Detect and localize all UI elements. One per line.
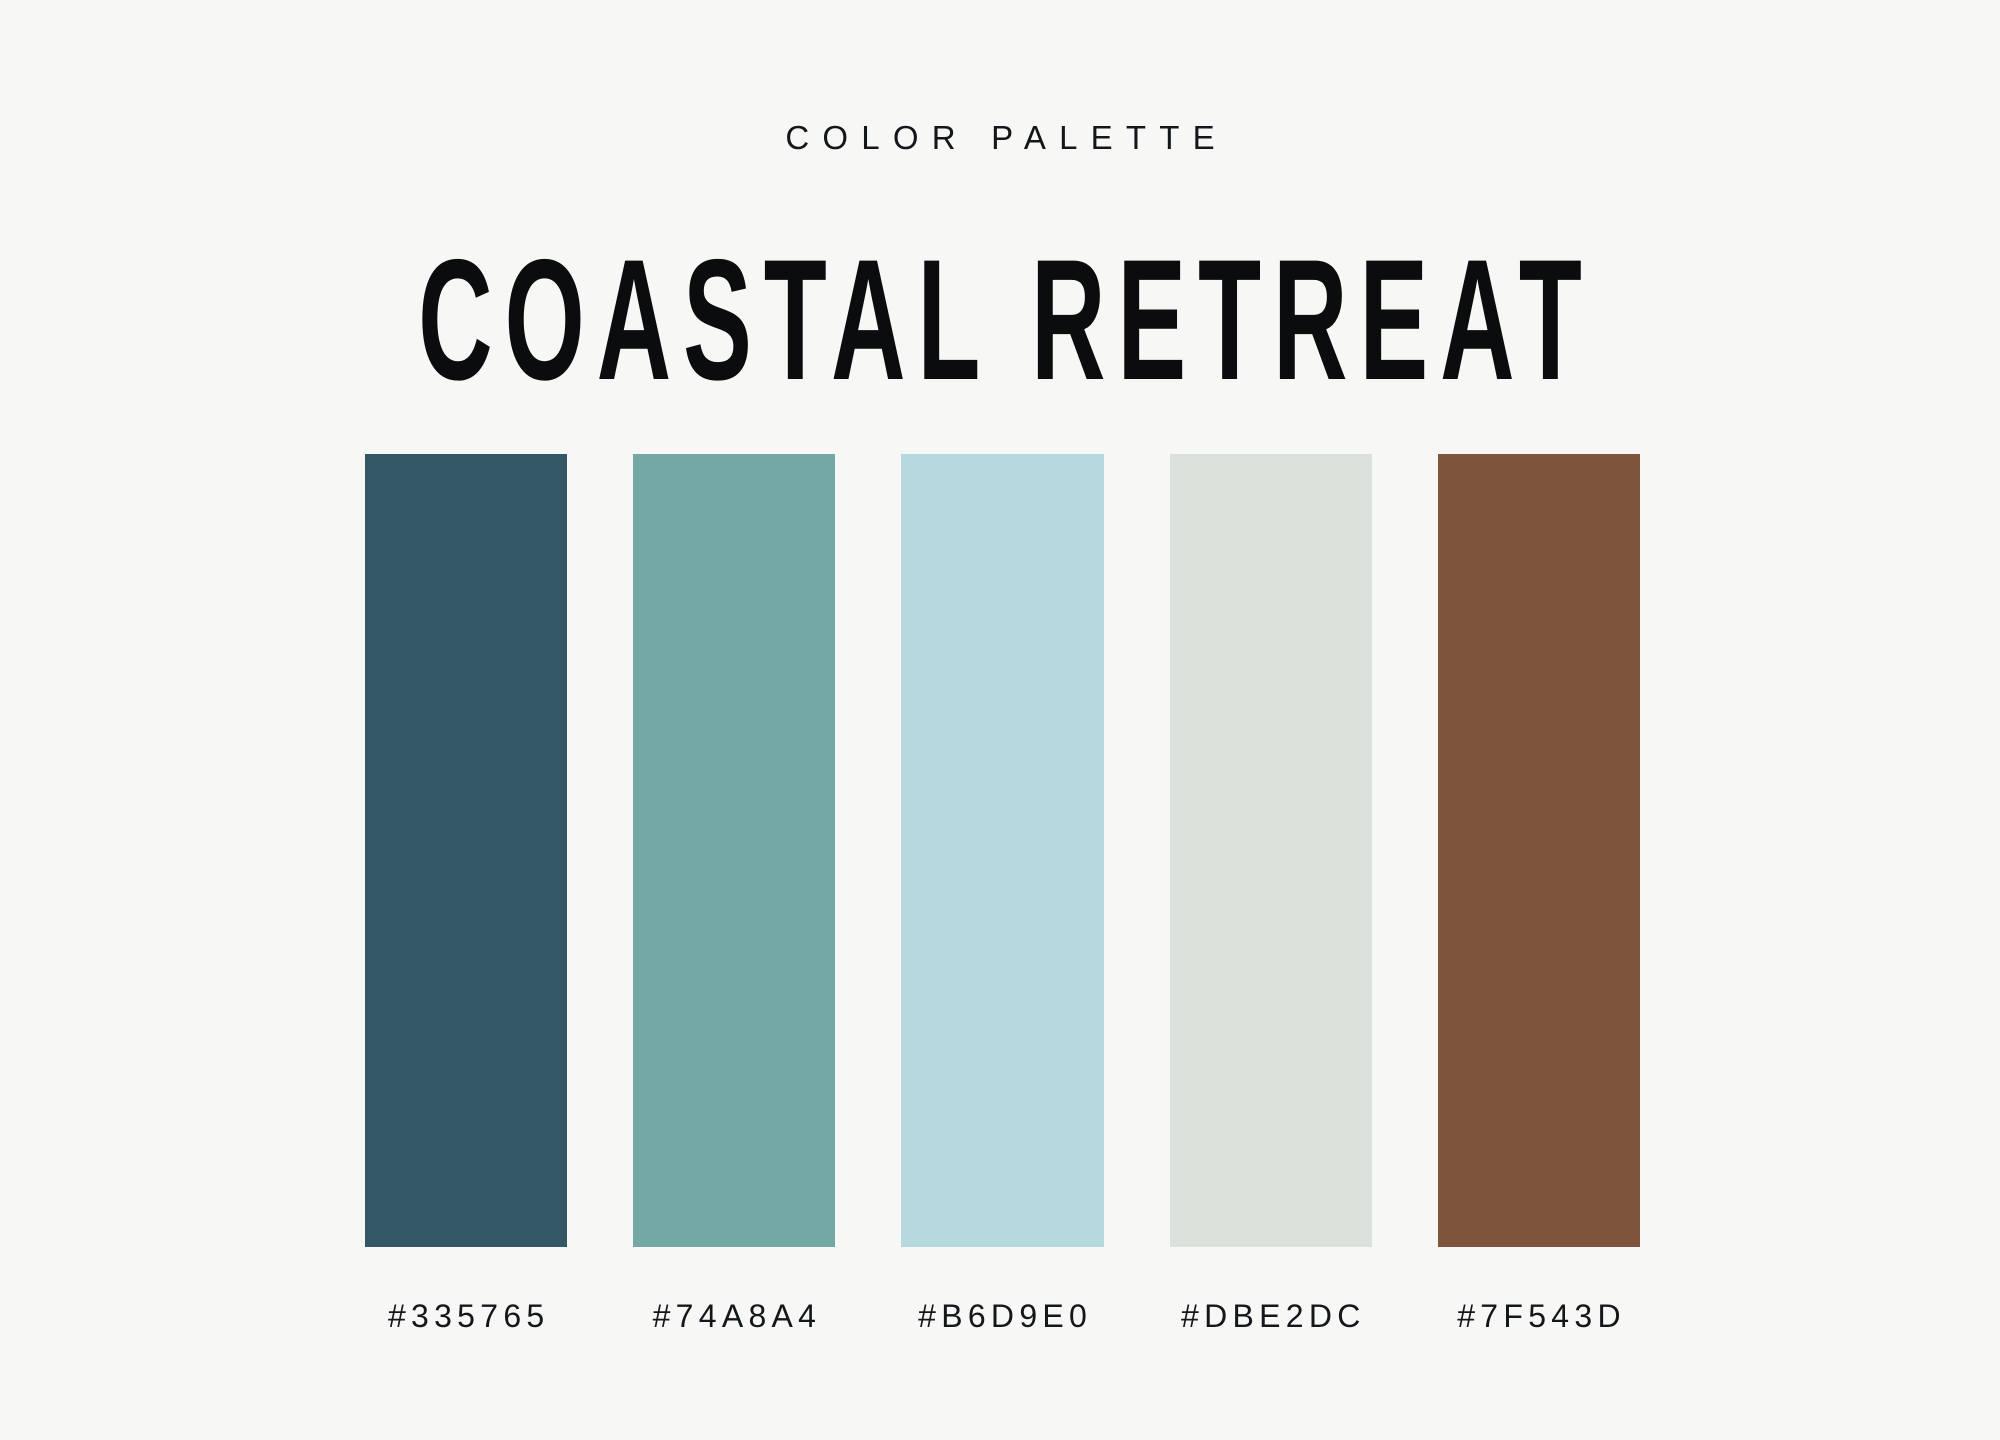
hex-code-row: #335765#74A8A4#B6D9E0#DBE2DC#7F543D [365,1292,1640,1340]
swatch-column-deep-teal-blue[interactable] [365,454,567,1247]
swatch-strip [365,454,1640,1247]
swatch-column-muted-sea-green[interactable] [633,454,835,1247]
hex-code-label-pale-sky-blue: #B6D9E0 [901,1292,1103,1340]
color-swatch-muted-sea-green[interactable] [633,454,835,1247]
swatch-column-pale-sky-blue[interactable] [901,454,1103,1247]
swatch-column-driftwood-brown[interactable] [1438,454,1640,1247]
palette-eyebrow-label: COLOR PALETTE [0,121,2000,154]
hex-code-label-driftwood-brown: #7F543D [1438,1292,1640,1340]
hex-code-label-deep-teal-blue: #335765 [365,1292,567,1340]
color-palette-poster: COLOR PALETTE COASTAL RETREAT #335765#74… [0,0,2000,1440]
color-swatch-driftwood-brown[interactable] [1438,454,1640,1247]
swatch-column-soft-mist-grey[interactable] [1170,454,1372,1247]
color-swatch-soft-mist-grey[interactable] [1170,454,1372,1247]
hex-code-label-muted-sea-green: #74A8A4 [633,1292,835,1340]
color-swatch-deep-teal-blue[interactable] [365,454,567,1247]
palette-title: COASTAL RETREAT [400,234,1600,406]
hex-code-label-soft-mist-grey: #DBE2DC [1170,1292,1372,1340]
color-swatch-pale-sky-blue[interactable] [901,454,1103,1247]
